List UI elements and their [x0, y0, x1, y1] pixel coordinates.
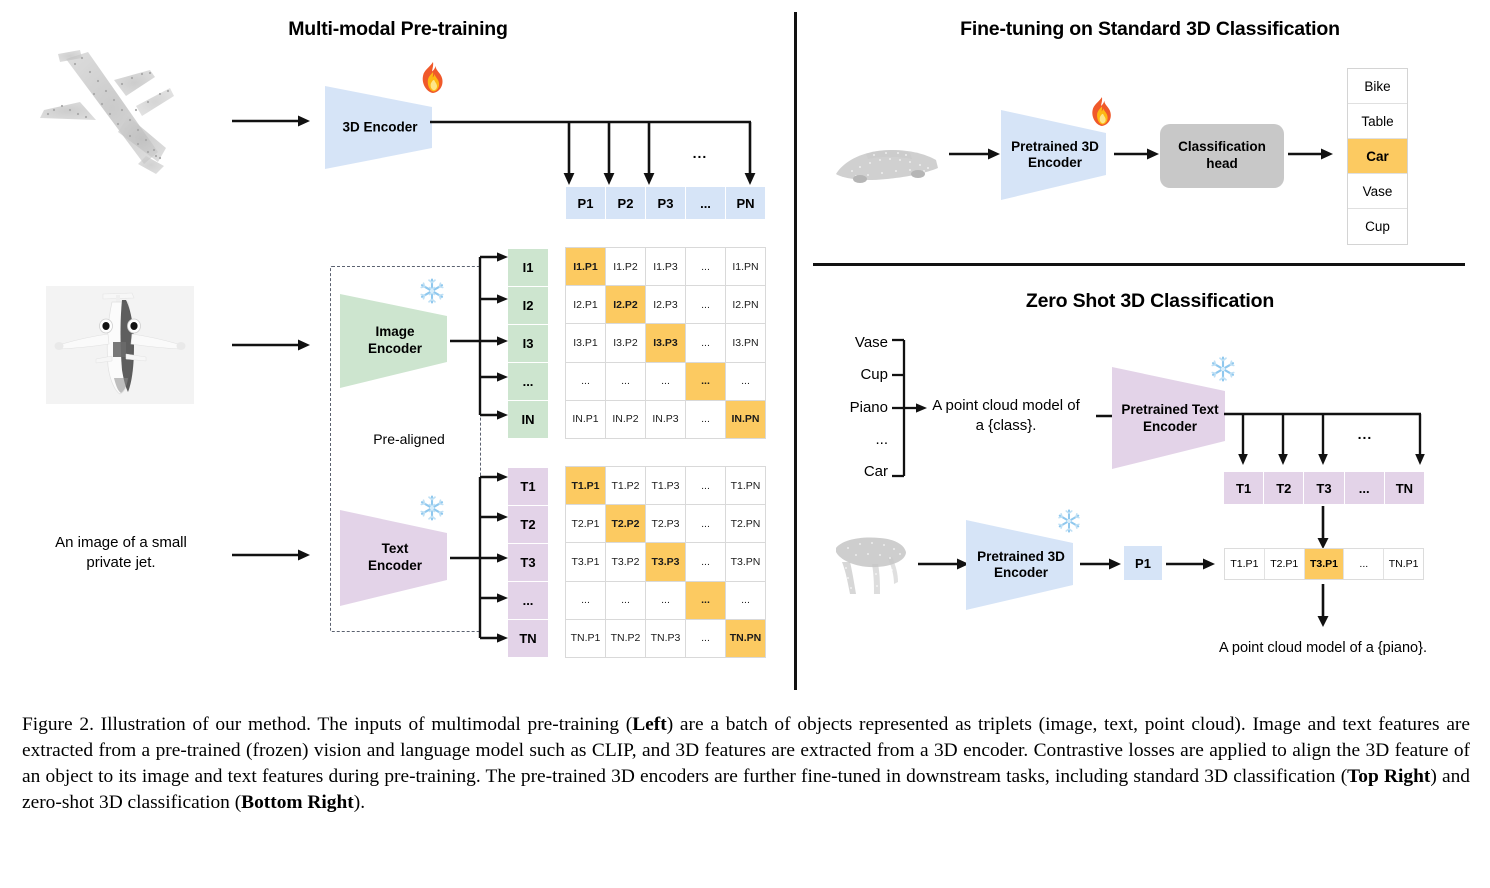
zeroshot-class-name-3: ... — [826, 431, 888, 448]
t-token-strip-zeroshot: T1T2T3...TN — [1224, 472, 1424, 504]
text-matrix-cell-3-1: ... — [606, 582, 645, 619]
image-matrix-cell-3-2: ... — [646, 363, 685, 400]
image-matrix-cell-3-0: ... — [566, 363, 605, 400]
text-matrix-cell-3-3: ... — [686, 582, 725, 619]
t-token-2: T3 — [508, 544, 548, 582]
score-cell-2: T3.P1 — [1305, 549, 1345, 579]
class-item-car: Car — [1348, 139, 1407, 174]
arrow-scores-to-output — [1315, 584, 1331, 628]
bus-text-encoder-to-t-tokens — [450, 472, 512, 640]
image-matrix-cell-3-1: ... — [606, 363, 645, 400]
arrow-p1-to-scores — [1166, 556, 1216, 572]
class-item-bike: Bike — [1348, 69, 1407, 104]
t-bus-ellipsis-zeroshot: ... — [1345, 425, 1385, 443]
figure-canvas: Multi-modal Pre-training — [0, 0, 1490, 700]
image-matrix-cell-1-4: I2.PN — [726, 286, 765, 323]
image-matrix-cell-1-2: I2.P3 — [646, 286, 685, 323]
text-matrix-cell-0-0: T1.P1 — [566, 467, 605, 504]
i-token-3: ... — [508, 363, 548, 401]
image-encoder-label: Image Encoder — [340, 324, 450, 358]
image-encoder-trapezoid: Image Encoder — [340, 290, 450, 392]
text-matrix-cell-2-3: ... — [686, 543, 725, 580]
zeroshot-class-name-4: Car — [826, 463, 888, 480]
text-matrix-cell-0-2: T1.P3 — [646, 467, 685, 504]
arrow-encoder-to-head — [1114, 146, 1160, 162]
text-encoder-label: Text Encoder — [340, 541, 450, 575]
zeroshot-class-name-0: Vase — [826, 334, 888, 351]
image-matrix-cell-1-1: I2.P2 — [606, 286, 645, 323]
text-matrix-cell-4-0: TN.P1 — [566, 620, 605, 657]
text-matrix-cell-4-2: TN.P3 — [646, 620, 685, 657]
image-matrix-cell-2-2: I3.P3 — [646, 324, 685, 361]
t-token-3: ... — [508, 582, 548, 620]
image-matrix-cell-4-3: ... — [686, 401, 725, 438]
private-jet-render — [46, 286, 194, 404]
snowflake-icon — [1209, 355, 1237, 383]
image-matrix-cell-3-3: ... — [686, 363, 725, 400]
p-token-strip: P1P2P3...PN — [566, 187, 765, 219]
pretrained-3d-encoder-label: Pretrained 3D Encoder — [1001, 139, 1109, 173]
image-matrix-cell-0-0: I1.P1 — [566, 248, 605, 285]
i-token-0: I1 — [508, 249, 548, 287]
text-matrix-cell-0-1: T1.P2 — [606, 467, 645, 504]
bus-text-encoder-to-t-tokens-zeroshot — [1224, 410, 1434, 480]
text-matrix-cell-1-2: T2.P3 — [646, 505, 685, 542]
score-cell-3: ... — [1344, 549, 1384, 579]
arrow-encoder-to-p1 — [1080, 556, 1122, 572]
text-matrix-cell-4-4: TN.PN — [726, 620, 765, 657]
left-panel-title: Multi-modal Pre-training — [178, 18, 618, 41]
score-cell-1: T2.P1 — [1265, 549, 1305, 579]
class-item-vase: Vase — [1348, 174, 1407, 209]
arrow-t-tokens-to-scores — [1315, 506, 1331, 550]
score-cell-0: T1.P1 — [1225, 549, 1265, 579]
text-matrix-cell-0-4: T1.PN — [726, 467, 765, 504]
image-matrix-cell-2-4: I3.PN — [726, 324, 765, 361]
zeroshot-output-text: A point cloud model of a {piano}. — [1168, 639, 1478, 658]
arrow-pointcloud-to-3d-encoder — [232, 113, 312, 129]
bottom-right-panel-title: Zero Shot 3D Classification — [900, 290, 1400, 313]
t-token-zeroshot-4: TN — [1385, 472, 1424, 504]
i-token-4: IN — [508, 401, 548, 438]
top-right-panel-title: Fine-tuning on Standard 3D Classificatio… — [850, 18, 1450, 41]
image-matrix-cell-2-0: I3.P1 — [566, 324, 605, 361]
caption-bold-run: Left — [632, 714, 666, 735]
image-matrix-cell-4-0: IN.P1 — [566, 401, 605, 438]
p-token-3: ... — [686, 187, 726, 219]
arrow-image-to-image-encoder — [232, 337, 312, 353]
caption-text-run: ). — [354, 792, 365, 813]
classification-head-box: Classification head — [1160, 124, 1284, 188]
image-matrix-cell-0-2: I1.P3 — [646, 248, 685, 285]
piano-point-cloud — [826, 528, 916, 606]
pretrained-3d-encoder-label-zeroshot: Pretrained 3D Encoder — [966, 549, 1076, 583]
i-token-1: I2 — [508, 287, 548, 325]
fire-icon — [417, 61, 447, 95]
image-matrix-cell-2-3: ... — [686, 324, 725, 361]
image-point-similarity-matrix: I1.P1I1.P2I1.P3...I1.PNI2.P1I2.P2I2.P3..… — [566, 248, 765, 438]
image-matrix-cell-4-2: IN.P3 — [646, 401, 685, 438]
text-matrix-cell-3-0: ... — [566, 582, 605, 619]
t-token-column: T1T2T3...TN — [508, 468, 548, 657]
text-point-similarity-matrix: T1.P1T1.P2T1.P3...T1.PNT2.P1T2.P2T2.P3..… — [566, 467, 765, 657]
class-prediction-list: BikeTableCarVaseCup — [1347, 68, 1408, 245]
p-token-0: P1 — [566, 187, 606, 219]
pretrained-text-encoder-label: Pretrained Text Encoder — [1112, 402, 1228, 436]
t-token-zeroshot-3: ... — [1345, 472, 1385, 504]
text-matrix-cell-4-1: TN.P2 — [606, 620, 645, 657]
image-matrix-cell-0-3: ... — [686, 248, 725, 285]
text-matrix-cell-1-1: T2.P2 — [606, 505, 645, 542]
input-text-caption: An image of a small private jet. — [28, 533, 214, 572]
caption-bold-run: Top Right — [1347, 766, 1430, 787]
t-token-0: T1 — [508, 468, 548, 506]
text-matrix-cell-3-4: ... — [726, 582, 765, 619]
caption-text-run: Figure 2. Illustration of our method. Th… — [22, 714, 632, 735]
zeroshot-class-name-2: Piano — [826, 399, 888, 416]
prompt-template: A point cloud model of a {class}. — [916, 396, 1096, 437]
arrow-head-to-classlist — [1288, 146, 1334, 162]
t-token-zeroshot-1: T2 — [1264, 472, 1304, 504]
text-matrix-cell-2-1: T3.P2 — [606, 543, 645, 580]
p-bus-ellipsis: ... — [680, 144, 720, 162]
arrow-car-to-encoder — [949, 146, 1001, 162]
t-token-1: T2 — [508, 506, 548, 544]
p1-feature-box: P1 — [1124, 546, 1162, 580]
text-matrix-cell-1-0: T2.P1 — [566, 505, 605, 542]
bus-image-encoder-to-i-tokens — [450, 253, 512, 417]
class-item-cup: Cup — [1348, 209, 1407, 244]
zeroshot-class-names: VaseCupPiano...Car — [826, 334, 888, 480]
arrow-text-to-text-encoder — [232, 547, 312, 563]
text-matrix-cell-3-2: ... — [646, 582, 685, 619]
image-matrix-cell-2-1: I3.P2 — [606, 324, 645, 361]
arrow-piano-to-encoder — [918, 556, 970, 572]
text-matrix-cell-2-4: T3.PN — [726, 543, 765, 580]
p-token-2: P3 — [646, 187, 686, 219]
fire-icon — [1087, 96, 1115, 128]
i-token-column: I1I2I3...IN — [508, 249, 548, 438]
pre-aligned-label: Pre-aligned — [344, 430, 474, 448]
image-matrix-cell-0-1: I1.P2 — [606, 248, 645, 285]
zeroshot-class-name-1: Cup — [826, 366, 888, 383]
snowflake-icon — [1056, 508, 1082, 534]
vertical-divider — [794, 12, 797, 690]
zeroshot-score-row: T1.P1T2.P1T3.P1...TN.P1 — [1224, 548, 1424, 580]
car-point-cloud — [828, 138, 948, 198]
text-matrix-cell-1-3: ... — [686, 505, 725, 542]
image-matrix-cell-3-4: ... — [726, 363, 765, 400]
snowflake-icon — [418, 277, 446, 305]
image-matrix-cell-4-4: IN.PN — [726, 401, 765, 438]
figure-caption: Figure 2. Illustration of our method. Th… — [22, 712, 1470, 816]
image-matrix-cell-1-0: I2.P1 — [566, 286, 605, 323]
t-token-zeroshot-0: T1 — [1224, 472, 1264, 504]
text-matrix-cell-4-3: ... — [686, 620, 725, 657]
image-matrix-cell-0-4: I1.PN — [726, 248, 765, 285]
caption-bold-run: Bottom Right — [241, 792, 354, 813]
text-matrix-cell-1-4: T2.PN — [726, 505, 765, 542]
image-matrix-cell-4-1: IN.P2 — [606, 401, 645, 438]
snowflake-icon — [418, 494, 446, 522]
airplane-point-cloud — [18, 44, 228, 204]
text-matrix-cell-2-0: T3.P1 — [566, 543, 605, 580]
t-token-zeroshot-2: T3 — [1304, 472, 1344, 504]
text-matrix-cell-0-3: ... — [686, 467, 725, 504]
horizontal-divider — [813, 263, 1465, 266]
score-cell-4: TN.P1 — [1384, 549, 1423, 579]
text-matrix-cell-2-2: T3.P3 — [646, 543, 685, 580]
p-token-4: PN — [726, 187, 765, 219]
i-token-2: I3 — [508, 325, 548, 363]
t-token-4: TN — [508, 620, 548, 657]
p-token-1: P2 — [606, 187, 646, 219]
3d-encoder-label: 3D Encoder — [325, 119, 435, 136]
image-matrix-cell-1-3: ... — [686, 286, 725, 323]
class-item-table: Table — [1348, 104, 1407, 139]
